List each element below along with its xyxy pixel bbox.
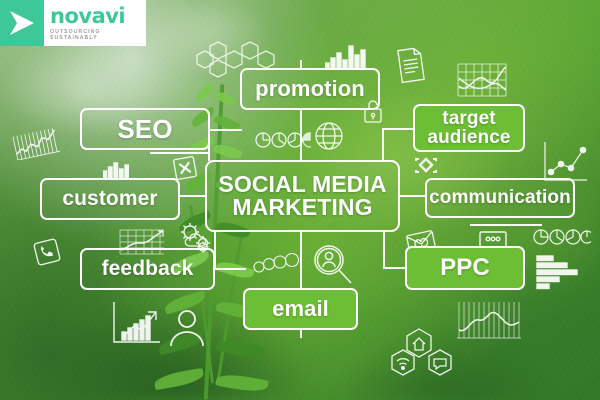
spreadsheet-x-icon [172, 155, 198, 181]
connector-target-vertical [382, 128, 384, 162]
magnifier-person-icon [312, 243, 354, 287]
connector-upper-left-rail [150, 152, 210, 154]
phone-icon [33, 238, 61, 266]
connector-center-to-email [300, 232, 302, 288]
novavi-logo[interactable]: novavi OUTSOURCING SUSTAINABLY [0, 0, 146, 46]
hexagon-wifi-icon [389, 348, 417, 378]
logo-wordmark: novavi [50, 6, 146, 27]
node-feedback-label: feedback [102, 258, 194, 279]
connector-ppc-right-rail [470, 224, 542, 226]
line-graph-grid-icon [456, 62, 508, 102]
node-feedback[interactable]: feedback [80, 248, 215, 290]
connector-feedback-horizontal [214, 268, 246, 270]
node-communication[interactable]: communication [425, 178, 575, 218]
bubble-chain-icon [253, 253, 301, 275]
node-customer[interactable]: customer [40, 178, 180, 220]
node-customer-label: customer [62, 188, 157, 209]
node-ppc[interactable]: PPC [405, 246, 525, 290]
pie-charts-row-icon [255, 130, 311, 150]
connector-center-to-promotion [300, 110, 302, 160]
bar-chart-icon [325, 44, 369, 70]
logo-tagline: OUTSOURCING SUSTAINABLY [50, 29, 146, 41]
node-target-audience-label: target audience [415, 109, 523, 148]
connector-ppc-vertical [383, 232, 385, 268]
document-icon [394, 46, 428, 84]
node-center-label: SOCIAL MEDIA MARKETING [207, 173, 398, 220]
node-social-media-marketing[interactable]: SOCIAL MEDIA MARKETING [205, 160, 400, 232]
growth-arrow-chart-icon [110, 300, 164, 346]
wave-chart-icon [455, 300, 523, 344]
node-target-audience[interactable]: target audience [413, 104, 525, 152]
node-promotion-label: promotion [255, 78, 365, 100]
small-bar-chart-icon [103, 160, 129, 178]
node-communication-label: communication [429, 188, 571, 207]
node-ppc-label: PPC [440, 256, 490, 280]
connector-center-left-stub [180, 195, 206, 197]
globe-icon [313, 120, 345, 152]
node-promotion[interactable]: promotion [240, 68, 380, 110]
node-email[interactable]: email [243, 288, 358, 330]
zigzag-chart-icon [12, 128, 60, 160]
connector-center-right-stub [399, 195, 425, 197]
play-arrow-icon [8, 10, 36, 36]
connector-seo-horizontal [208, 129, 242, 131]
pie-charts-row-icon [533, 227, 591, 247]
horizontal-bar-chart-icon [536, 254, 580, 294]
node-seo-label: SEO [117, 116, 172, 143]
connector-ppc-horizontal [383, 267, 407, 269]
logo-text-block: novavi OUTSOURCING SUSTAINABLY [44, 6, 146, 41]
logo-mark [0, 0, 44, 46]
person-icon [168, 306, 206, 348]
node-email-label: email [272, 298, 329, 320]
poster-canvas: SOCIAL MEDIA MARKETING promotion SEO tar… [0, 0, 600, 400]
connector-target-horizontal [382, 128, 414, 130]
connector-email-bottom-rail [300, 330, 302, 338]
hexagon-chat-icon [426, 348, 454, 378]
node-seo[interactable]: SEO [80, 108, 210, 150]
